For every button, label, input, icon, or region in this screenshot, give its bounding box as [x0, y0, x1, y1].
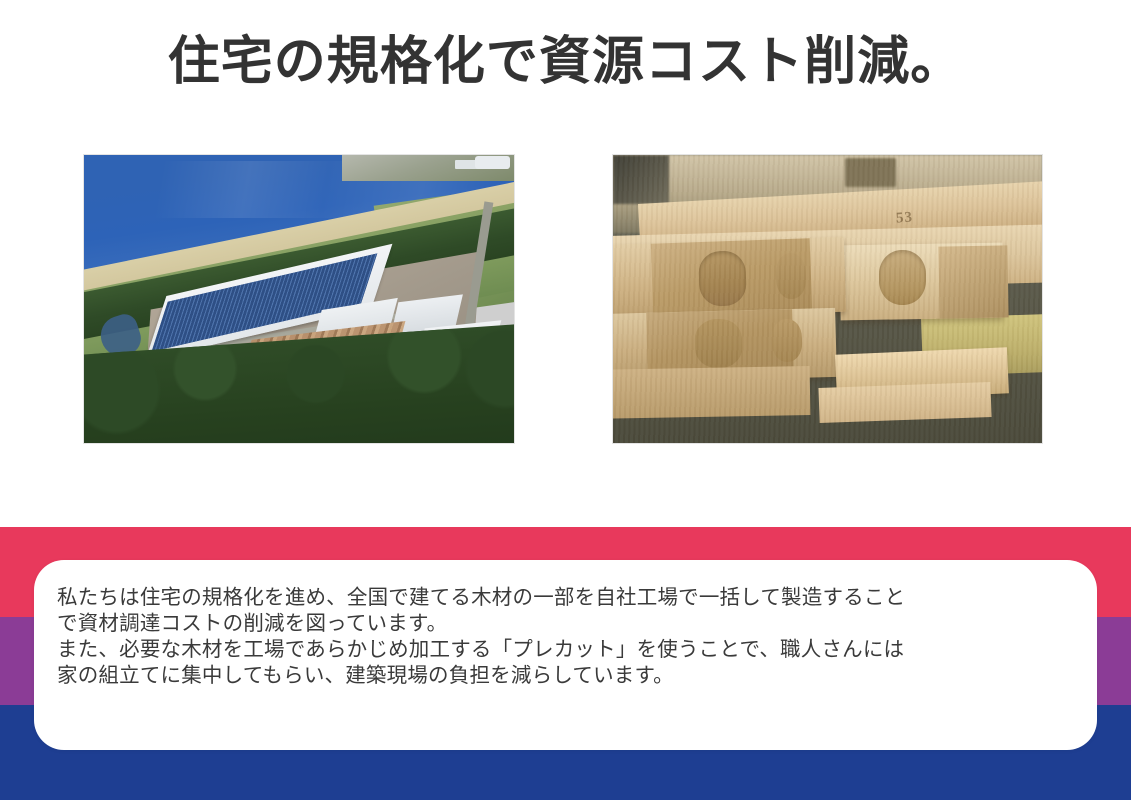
precut-timber-photo-canvas: 53 [613, 155, 1042, 443]
top-beam-notch-small-layer [775, 252, 807, 299]
right-beam-end-grain-layer [938, 245, 1008, 318]
precut-timber-photo: 53 [612, 154, 1043, 444]
aerial-factory-photo-canvas [84, 155, 514, 443]
foreground-plank-second-layer [818, 382, 991, 423]
page-title: 住宅の規格化で資源コスト削減。 [0, 33, 1131, 93]
aerial-factory-photo [83, 154, 515, 444]
far-tanks-layer [475, 156, 509, 169]
workshop-shadow-layer [613, 155, 669, 204]
description-text: 私たちは住宅の規格化を進め、全国で建てる木材の一部を自社工場で一括して製造するこ… [57, 585, 1071, 689]
right-beam-notch-layer [879, 250, 926, 305]
description-card: 私たちは住宅の規格化を進め、全国で建てる木材の一部を自社工場で一括して製造するこ… [34, 560, 1097, 750]
top-beam-notch-large-layer [698, 251, 747, 307]
timber-stamp-label: 53 [896, 209, 914, 227]
workshop-machine-layer [845, 158, 896, 187]
middle-beam-notch-large-layer [694, 319, 742, 369]
bottom-beam-layer [612, 366, 811, 419]
presentation-slide: 住宅の規格化で資源コスト削減。 [0, 0, 1131, 800]
middle-beam-notch-small-layer [771, 319, 802, 363]
